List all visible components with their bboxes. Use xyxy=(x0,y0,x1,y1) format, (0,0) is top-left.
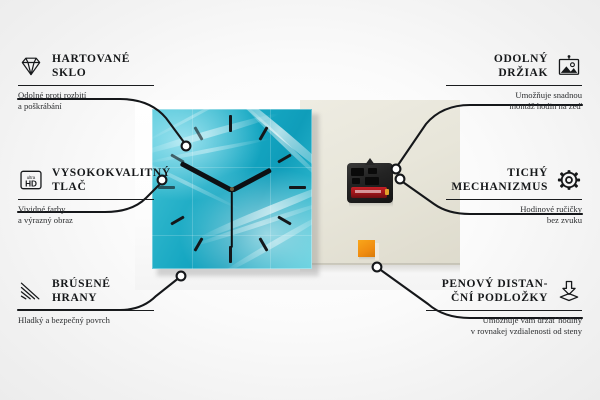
feature-subtitle: Vividné farby a výrazný obraz xyxy=(18,204,154,226)
feature-title: HARTOVANÉ SKLO xyxy=(52,52,130,80)
feature-foam-spacers: PENOVÝ DISTAN- ČNÍ PODLOŽKY Umožňuje vám… xyxy=(426,277,582,337)
gear-icon xyxy=(556,168,582,192)
tick-2 xyxy=(277,153,291,163)
minute-hand xyxy=(180,161,234,193)
feature-polished-edges: BRÚSENÉ HRANY Hladký a bezpečný povrch xyxy=(18,277,154,326)
spacer-stack-icon xyxy=(556,279,582,303)
polished-edges-icon xyxy=(18,279,44,303)
foam-pad xyxy=(358,240,375,257)
feature-divider xyxy=(18,310,154,311)
foam-pad-side xyxy=(375,243,379,260)
feature-title: BRÚSENÉ HRANY xyxy=(52,277,111,305)
backdrop-panel-shadow xyxy=(300,263,460,273)
feature-hardened-glass: HARTOVANÉ SKLO Odolné proti rozbití a po… xyxy=(18,52,154,112)
svg-text:HD: HD xyxy=(25,180,37,189)
infographic-canvas: HARTOVANÉ SKLO Odolné proti rozbití a po… xyxy=(0,0,600,400)
feature-divider xyxy=(446,85,582,86)
feature-divider xyxy=(426,310,582,311)
battery xyxy=(351,187,387,198)
feature-title: VYSOKOKVALITNÝ TLAČ xyxy=(52,166,171,194)
second-hand xyxy=(231,190,233,248)
feature-divider xyxy=(18,85,154,86)
product-photo xyxy=(135,100,460,290)
clock-mechanism xyxy=(347,163,393,203)
tick-8 xyxy=(170,215,184,225)
feature-subtitle: Umožňuje snadnou montáž hodin na zeď xyxy=(446,90,582,112)
feature-silent-mechanism: TICHÝ MECHANIZMUS xyxy=(446,166,582,226)
ultra-hd-badge-icon: ultra HD xyxy=(18,168,44,192)
feature-durable-hanger: ODOLNÝ DRŽIAK Umožňuje snadnou montáž ho… xyxy=(446,52,582,112)
feature-divider xyxy=(18,199,154,200)
tick-6 xyxy=(229,246,232,263)
feature-subtitle: Hodinové ručičky bez zvuku xyxy=(446,204,582,226)
feature-subtitle: Hladký a bezpečný povrch xyxy=(18,315,154,326)
hands-center-pin xyxy=(230,187,234,191)
wall-clock-face xyxy=(152,109,312,269)
feature-subtitle: Umožňuje vám držať hodiny v rovnakej vzd… xyxy=(426,315,582,337)
tick-12 xyxy=(229,115,232,132)
feature-divider xyxy=(446,199,582,200)
hour-hand xyxy=(231,168,272,193)
tick-3 xyxy=(289,186,306,189)
feature-subtitle: Odolné proti rozbití a poškrábání xyxy=(18,90,154,112)
feature-title: PENOVÝ DISTAN- ČNÍ PODLOŽKY xyxy=(442,277,548,305)
picture-frame-hanger-icon xyxy=(556,54,582,78)
feature-title: ODOLNÝ DRŽIAK xyxy=(494,52,548,80)
diamond-icon xyxy=(18,54,44,78)
feature-high-quality-print: ultra HD VYSOKOKVALITNÝ TLAČ Vividné far… xyxy=(18,166,154,226)
feature-title: TICHÝ MECHANIZMUS xyxy=(451,166,548,194)
